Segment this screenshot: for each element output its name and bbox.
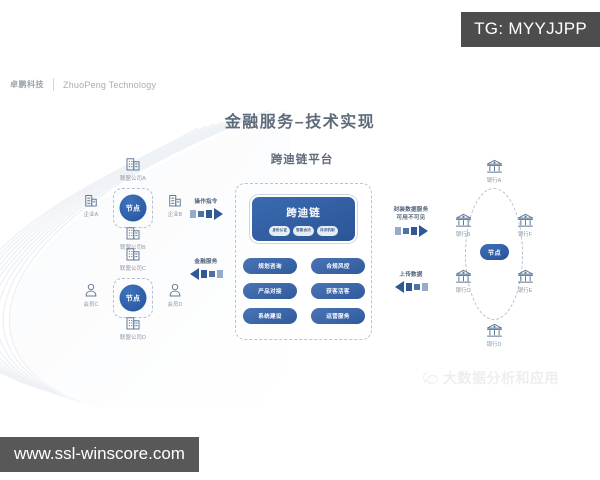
- entity-label: 会员D: [152, 300, 198, 308]
- platform-title: 跨迪链平台: [232, 151, 372, 167]
- service-cell[interactable]: 运营服务: [311, 308, 365, 324]
- building-icon: [166, 191, 184, 209]
- wechat-watermark: 大数据分析和应用: [422, 368, 559, 388]
- flow-block: [217, 270, 223, 278]
- bank-node-chip: 节点: [480, 244, 509, 260]
- chain-core-card: 跨迪链 身份认证 智能合约 共识机制: [250, 195, 357, 243]
- flow-block: [406, 283, 412, 291]
- capability-pill-contract: 智能合约: [293, 226, 314, 236]
- bank-entity-b: 银行B: [443, 212, 483, 238]
- flow-label: 封装数据服务: [378, 206, 444, 214]
- bank-icon: [485, 322, 504, 339]
- bank-label: 银行E: [505, 286, 545, 294]
- bank-label: 银行D: [474, 340, 514, 348]
- wechat-icon: [422, 371, 439, 386]
- brand-name-en: ZhuoPeng Technology: [63, 80, 156, 90]
- entity-alliance-company-c: 联盟公司C: [110, 245, 156, 272]
- entity-alliance-company-d: 联盟公司D: [110, 314, 156, 341]
- capability-pill-consensus: 共识机制: [317, 226, 338, 236]
- entity-label: 企业A: [68, 210, 114, 218]
- arrow-right-icon: [214, 208, 223, 220]
- arrow-left-icon: [190, 268, 199, 280]
- service-cell[interactable]: 合规风控: [311, 258, 365, 274]
- service-cell[interactable]: 系统建设: [243, 308, 297, 324]
- entity-label: 联盟公司C: [110, 264, 156, 272]
- bank-entity-d: 银行D: [474, 322, 514, 348]
- arrow-right-icon: [419, 225, 428, 237]
- service-cell[interactable]: 规划咨询: [243, 258, 297, 274]
- bank-icon: [485, 158, 504, 175]
- flow-block: [403, 228, 409, 234]
- flow-sublabel: 可用不可见: [378, 214, 444, 222]
- flow-block: [411, 227, 417, 235]
- service-cell[interactable]: 产品对接: [243, 283, 297, 299]
- flow-upload-data: 上传数据: [378, 271, 444, 293]
- node-chip: 节点: [120, 285, 147, 312]
- page-title: 金融服务–技术实现: [0, 108, 600, 132]
- bank-entity-e: 银行E: [505, 268, 545, 294]
- flow-track: [178, 268, 234, 280]
- entity-label: 联盟公司D: [110, 333, 156, 341]
- building-icon: [124, 224, 142, 242]
- bank-entity-a: 银行A: [474, 158, 514, 184]
- brand-divider: [53, 78, 54, 91]
- bank-label: 银行B: [443, 230, 483, 238]
- watermark-label: 大数据分析和应用: [443, 368, 559, 388]
- service-cell[interactable]: 获客活客: [311, 283, 365, 299]
- bank-label: 银行C: [443, 286, 483, 294]
- brand-name-cn: 卓鹏科技: [10, 79, 44, 90]
- flow-financial-service: 金融服务: [178, 258, 234, 280]
- flow-block: [209, 271, 215, 277]
- tg-watermark-badge: TG: MYYJJPP: [461, 12, 600, 47]
- bank-label: 银行F: [505, 230, 545, 238]
- bank-icon: [454, 212, 473, 229]
- bank-entity-c: 银行C: [443, 268, 483, 294]
- node-chip: 节点: [120, 195, 147, 222]
- flow-block: [201, 270, 207, 278]
- bank-entity-f: 银行F: [505, 212, 545, 238]
- entity-member-c: 会员C: [68, 281, 114, 308]
- entity-alliance-company-a: 联盟公司A: [110, 155, 156, 182]
- capability-pill-identity: 身份认证: [269, 226, 290, 236]
- flow-block: [206, 210, 212, 218]
- entity-label: 企业B: [152, 210, 198, 218]
- building-icon: [124, 314, 142, 332]
- bank-icon: [516, 212, 535, 229]
- building-icon: [124, 245, 142, 263]
- entity-enterprise-b: 企业B: [152, 191, 198, 218]
- flow-data-service: 封装数据服务 可用不可见: [378, 206, 444, 237]
- entity-enterprise-a: 企业A: [68, 191, 114, 218]
- building-icon: [82, 191, 100, 209]
- bank-icon: [454, 268, 473, 285]
- chain-core-label: 跨迪链: [252, 205, 355, 220]
- flow-block: [422, 283, 428, 291]
- flow-label: 金融服务: [178, 258, 234, 266]
- slide-canvas: TG: MYYJJPP 卓鹏科技 ZhuoPeng Technology 金融服…: [0, 0, 600, 480]
- building-icon: [124, 155, 142, 173]
- entity-label: 会员C: [68, 300, 114, 308]
- flow-label: 上传数据: [378, 271, 444, 279]
- person-icon: [166, 281, 184, 299]
- flow-block: [414, 284, 420, 290]
- flow-track: [378, 225, 444, 237]
- entity-label: 联盟公司A: [110, 174, 156, 182]
- flow-block: [395, 227, 401, 235]
- bank-label: 银行A: [474, 176, 514, 184]
- service-grid: 规划咨询 合规风控 产品对接 获客活客 系统建设 运营服务: [243, 258, 365, 324]
- brand-logo: 卓鹏科技 ZhuoPeng Technology: [10, 78, 156, 91]
- entity-member-d: 会员D: [152, 281, 198, 308]
- arrow-left-icon: [395, 281, 404, 293]
- bank-icon: [516, 268, 535, 285]
- person-icon: [82, 281, 100, 299]
- flow-block: [198, 211, 204, 217]
- chain-capability-pills: 身份认证 智能合约 共识机制: [252, 226, 355, 236]
- flow-track: [378, 281, 444, 293]
- footer-url-badge: www.ssl-winscore.com: [0, 437, 199, 472]
